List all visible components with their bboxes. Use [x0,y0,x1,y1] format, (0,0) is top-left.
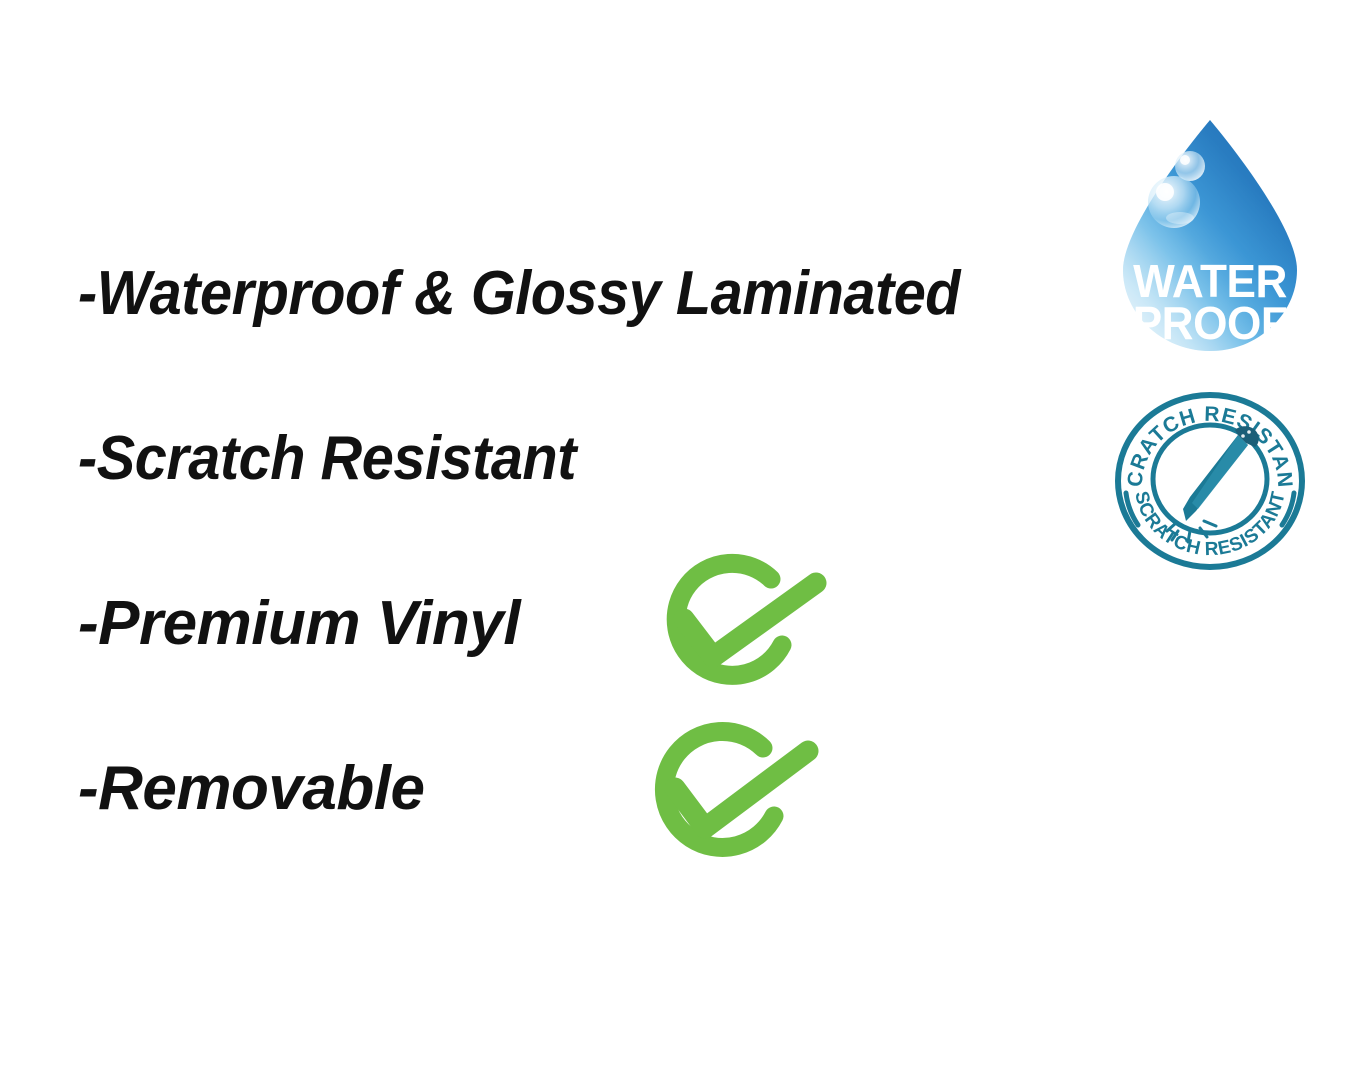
scratch-line-5 [1204,521,1216,526]
circle-check-icon [640,553,845,703]
knife-rivet-1 [1241,434,1245,438]
product-feature-graphic: -Waterproof & Glossy Laminated -Scratch … [0,0,1359,1080]
feature-item-scratch-resistant: -Scratch Resistant [78,423,576,494]
circle-check-icon [630,718,835,878]
feature-item-removable: -Removable [78,753,424,824]
droplet-sheen [1123,120,1297,351]
check-stroke [675,751,808,828]
feature-list: -Waterproof & Glossy Laminated -Scratch … [0,0,1100,1080]
scratch-resistant-badge: SCRATCH RESISTANT SCRATCH RESISTANT [1112,385,1308,571]
bubble-large-glint [1166,212,1194,224]
waterproof-droplet-badge: WATER PROOF [1104,108,1316,364]
bubble-large-highlight [1156,183,1174,201]
scratch-resistant-seal-icon: SCRATCH RESISTANT SCRATCH RESISTANT [1112,385,1308,571]
scratch-line-3 [1188,531,1190,542]
feature-item-premium-vinyl: -Premium Vinyl [78,588,520,659]
knife-blade-shine [1192,435,1248,509]
droplet-icon [1104,108,1316,364]
feature-item-waterproof-glossy-laminated: -Waterproof & Glossy Laminated [78,258,960,329]
bubble-small-icon [1175,151,1205,181]
check-stroke [684,583,816,657]
bubble-small-highlight [1180,155,1190,165]
knife-rivet-2 [1247,430,1251,434]
check-mark-removable [630,718,835,878]
check-mark-premium-vinyl [640,553,845,703]
